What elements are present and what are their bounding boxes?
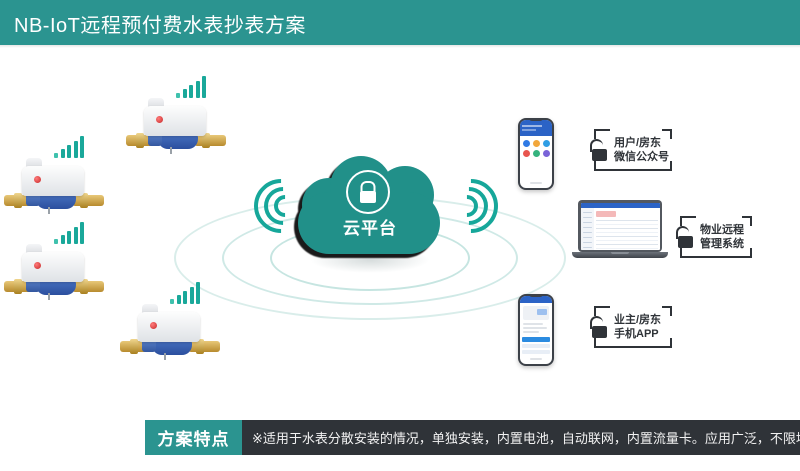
lock-icon (346, 170, 390, 214)
meter-stem (164, 353, 166, 360)
unlock-icon (676, 226, 695, 248)
meter-nut-left (14, 193, 22, 208)
slide-canvas: NB-IoT远程预付费水表抄表方案 (0, 0, 800, 471)
app-header-band (520, 296, 552, 303)
label-line-1: 物业远程 (700, 223, 744, 237)
label-wechat-official-account: 用户/房东 微信公众号 (594, 129, 672, 171)
signal-bars-icon (170, 282, 200, 304)
label-property-management-system: 物业远程 管理系统 (680, 216, 752, 258)
laptop-trackpad-notch (611, 252, 629, 254)
meter-stem (170, 147, 172, 154)
meter-body (22, 252, 84, 282)
meter-nut-left (136, 133, 144, 148)
laptop-screen (581, 203, 660, 250)
water-meter-4[interactable] (118, 298, 222, 360)
app-summary-card (523, 306, 549, 320)
label-line-2: 管理系统 (700, 237, 744, 251)
home-indicator (530, 358, 542, 360)
feature-badge: 方案特点 (145, 420, 242, 455)
console-sidebar (581, 208, 594, 250)
water-meter-1[interactable] (124, 92, 228, 154)
app-action-button (522, 337, 550, 342)
phone-notch (529, 294, 543, 297)
cloud-label: 云平台 (290, 214, 450, 239)
cloud-platform[interactable]: 云平台 (290, 152, 450, 262)
smartphone-wechat[interactable] (518, 118, 554, 190)
meter-stem (48, 293, 50, 300)
meter-pipe-right (188, 341, 220, 352)
app-header-band (520, 120, 552, 136)
laptop-lid (578, 200, 662, 252)
smartphone-owner-app[interactable] (518, 294, 554, 366)
header-bar: NB-IoT远程预付费水表抄表方案 (0, 0, 800, 45)
label-line-1: 用户/房东 (614, 136, 669, 150)
meter-led-indicator (156, 116, 163, 123)
meter-led-indicator (150, 322, 157, 329)
unlock-icon (590, 139, 609, 161)
meter-pipe-right (72, 195, 104, 206)
app-icon-grid (523, 140, 549, 157)
meter-pipe-right (72, 281, 104, 292)
meter-body (138, 312, 200, 342)
meter-stem (48, 207, 50, 214)
meter-led-indicator (34, 262, 41, 269)
water-meter-2[interactable] (2, 152, 106, 214)
meter-nut-left (130, 339, 138, 354)
unlock-icon (590, 316, 609, 338)
meter-nut-left (14, 279, 22, 294)
header-shadow (0, 45, 800, 48)
console-toolbar (596, 211, 616, 217)
water-meter-3[interactable] (2, 238, 106, 300)
meter-body (144, 106, 206, 136)
laptop-management-console[interactable] (572, 200, 668, 264)
feature-text: ※适用于水表分散安装的情况，单独安装，内置电池，自动联网，内置流量卡。应用广泛，… (252, 420, 800, 455)
label-line-2: 微信公众号 (614, 150, 669, 164)
meter-led-indicator (34, 176, 41, 183)
label-line-1: 业主/房东 (614, 313, 661, 327)
wifi-arc-right-icon (452, 175, 500, 237)
meter-pipe-right (194, 135, 226, 146)
home-indicator (530, 182, 542, 184)
label-line-2: 手机APP (614, 327, 661, 341)
meter-body (22, 166, 84, 196)
page-title: NB-IoT远程预付费水表抄表方案 (14, 9, 306, 38)
phone-screen (520, 296, 552, 364)
signal-bars-icon (54, 136, 84, 158)
signal-bars-icon (54, 222, 84, 244)
label-owner-mobile-app: 业主/房东 手机APP (594, 306, 672, 348)
phone-screen (520, 120, 552, 188)
signal-bars-icon (176, 76, 206, 98)
phone-notch (529, 118, 543, 121)
